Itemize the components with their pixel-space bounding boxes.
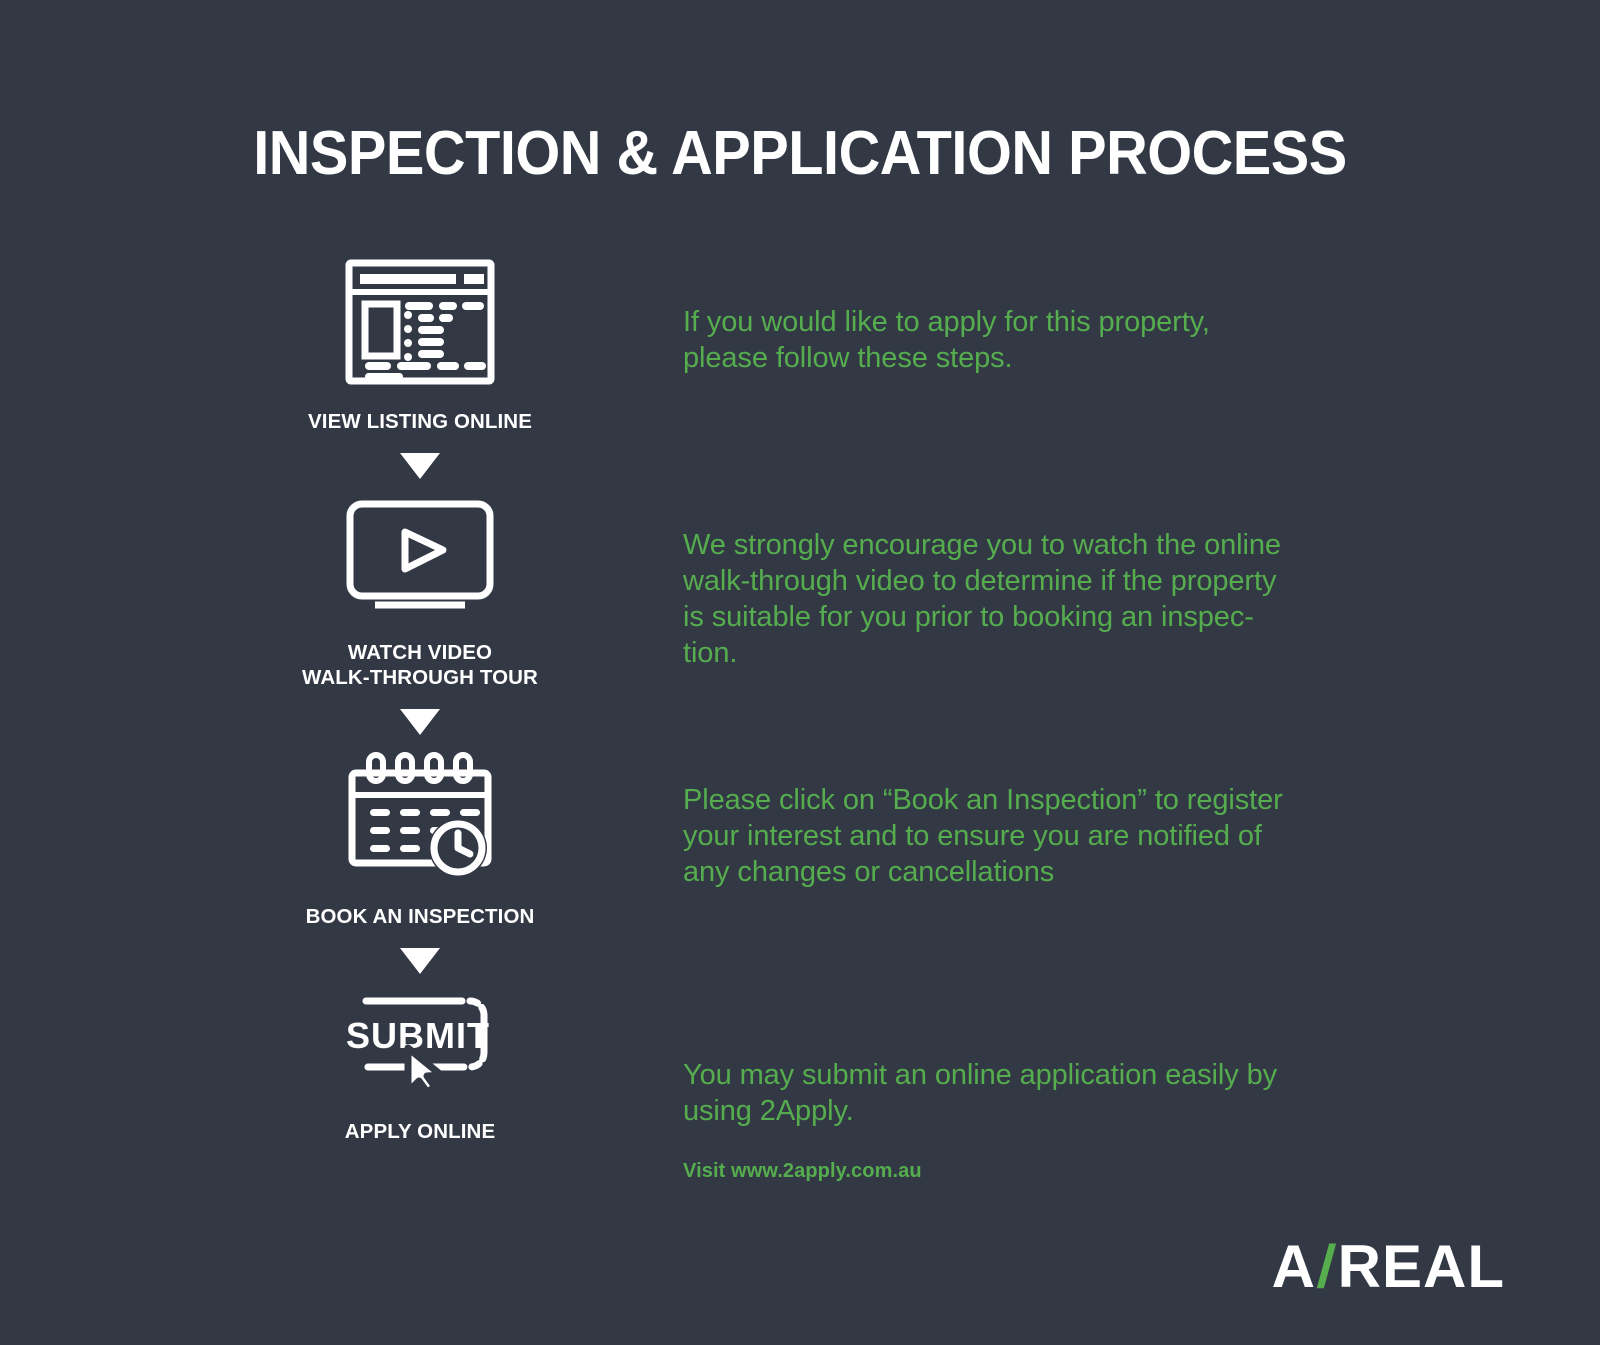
connector-1 xyxy=(180,453,660,479)
step-label: APPLY ONLINE xyxy=(345,1119,495,1145)
visit-url-text[interactable]: Visit www.2apply.com.au xyxy=(683,1160,922,1183)
step-apply-online: SUBMIT APPLY ONLINE xyxy=(180,996,660,1145)
submit-icon-label: SUBMIT xyxy=(346,1015,490,1056)
description-watch-video: We strongly encourage you to watch the o… xyxy=(683,528,1403,672)
brand-logo: A / REAL xyxy=(1272,1237,1505,1297)
logo-word-real: REAL xyxy=(1338,1237,1505,1297)
step-view-listing-online: VIEW LISTING ONLINE xyxy=(180,258,660,435)
connector-3 xyxy=(180,948,660,974)
step-watch-video: WATCH VIDEO WALK-THROUGH TOUR xyxy=(180,499,660,691)
description-apply-online: You may submit an online application eas… xyxy=(683,1058,1403,1130)
calendar-clock-icon xyxy=(348,751,492,886)
logo-letter-a: A xyxy=(1272,1237,1316,1297)
process-steps-column: VIEW LISTING ONLINE WATCH VIDEO WALK-THR… xyxy=(180,258,660,1144)
description-view-listing: If you would like to apply for this prop… xyxy=(683,305,1403,377)
connector-2 xyxy=(180,709,660,735)
submit-button-cursor-icon: SUBMIT xyxy=(344,996,496,1097)
video-monitor-play-icon xyxy=(345,499,495,622)
step-label: WATCH VIDEO WALK-THROUGH TOUR xyxy=(302,640,538,691)
arrow-down-triangle-icon xyxy=(400,453,440,479)
page-title: INSPECTION & APPLICATION PROCESS xyxy=(56,118,1544,189)
arrow-down-triangle-icon xyxy=(400,709,440,735)
step-label: VIEW LISTING ONLINE xyxy=(308,409,532,435)
description-book-inspection: Please click on “Book an Inspection” to … xyxy=(683,783,1403,891)
arrow-down-triangle-icon xyxy=(400,948,440,974)
step-label: BOOK AN INSPECTION xyxy=(306,904,535,930)
logo-slash-icon: / xyxy=(1315,1237,1338,1297)
browser-listing-icon xyxy=(344,258,496,391)
step-book-inspection: BOOK AN INSPECTION xyxy=(180,751,660,930)
